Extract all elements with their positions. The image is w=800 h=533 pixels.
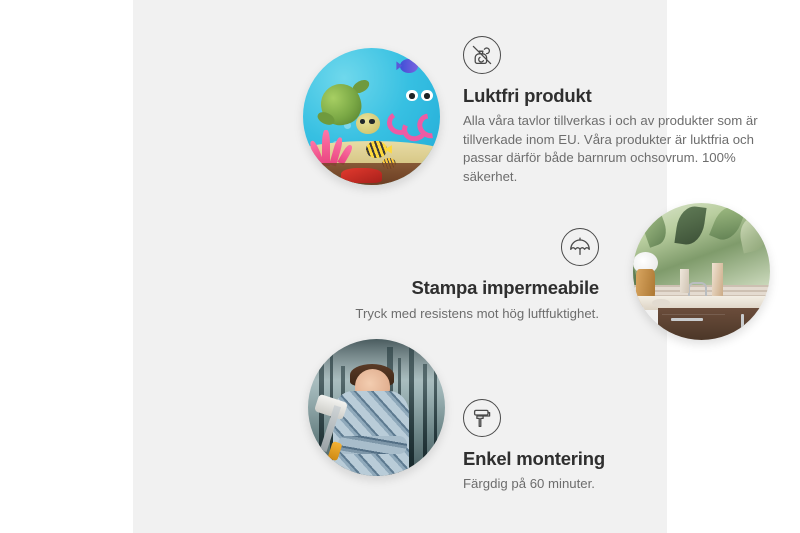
- leaf-shape: [674, 205, 707, 247]
- octopus-head: [396, 81, 440, 118]
- feature-block-odour-free: Luktfri produkt Alla våra tavlor tillver…: [463, 36, 763, 187]
- wooden-cabinet: [658, 308, 770, 340]
- toiletry-bottle: [680, 269, 690, 294]
- ocean-scene: [303, 48, 440, 185]
- feature-block-easy-mounting: Enkel montering Färgdig på 60 minuter.: [463, 399, 753, 494]
- coral-illustration: [311, 130, 358, 166]
- bathroom-scene: [633, 203, 770, 340]
- feature-title: Luktfri produkt: [463, 85, 763, 107]
- feature-title: Enkel montering: [463, 448, 753, 470]
- product-image-bathroom: [633, 203, 770, 340]
- content-panel: Luktfri produkt Alla våra tavlor tillver…: [133, 0, 667, 533]
- blue-fish-icon: [400, 59, 418, 73]
- feature-description: Alla våra tavlor tillverkas i och av pro…: [463, 112, 763, 187]
- turtle-illustration: [321, 84, 381, 136]
- yellow-fish-icon: [366, 141, 387, 157]
- painter-scene: [308, 339, 445, 476]
- leaf-shape: [639, 210, 671, 248]
- painter-folded-arms: [338, 436, 407, 454]
- octopus-eye: [421, 90, 432, 101]
- product-image-painter: [308, 339, 445, 476]
- product-image-ocean-mural: [303, 48, 440, 185]
- feature-title: Stampa impermeabile: [301, 277, 599, 299]
- feature-description: Färgdig på 60 minuter.: [463, 475, 753, 494]
- coral-branch: [322, 130, 329, 166]
- toiletry-bottle: [712, 263, 723, 296]
- no-odour-icon: [463, 36, 501, 74]
- tree-trunk: [409, 342, 414, 476]
- umbrella-icon: [561, 228, 599, 266]
- feature-description: Tryck med resistens mot hög luftfuktighe…: [301, 305, 599, 324]
- octopus-eye: [406, 90, 417, 101]
- soap-dish: [652, 299, 670, 307]
- feature-block-water-resistant: Stampa impermeabile Tryck med resistens …: [301, 228, 599, 324]
- drawer-handle: [671, 318, 702, 321]
- door-handle: [741, 314, 744, 331]
- tree-trunk: [434, 353, 437, 476]
- turtle-head: [356, 113, 380, 134]
- promo-graphic: Luktfri produkt Alla våra tavlor tillver…: [0, 0, 800, 533]
- paint-roller-icon: [463, 399, 501, 437]
- octopus-illustration: [388, 81, 440, 144]
- tree-trunk: [319, 355, 324, 476]
- door-handle: [759, 314, 762, 331]
- tree-trunk: [423, 364, 427, 476]
- foreground-strip: [303, 163, 440, 185]
